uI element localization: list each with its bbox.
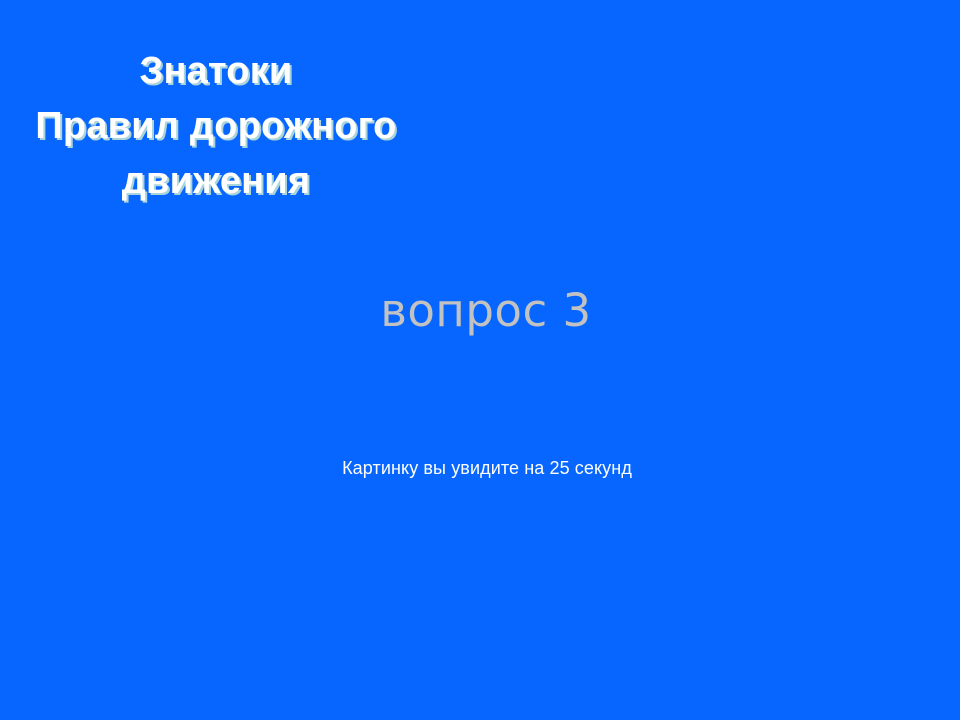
question-label: вопрос 3 — [0, 283, 960, 339]
presentation-slide: Знатоки Правил дорожного движения вопрос… — [0, 0, 960, 720]
title-line-3: движения — [0, 154, 432, 209]
slide-title: Знатоки Правил дорожного движения — [0, 44, 432, 209]
title-line-2: Правил дорожного — [0, 99, 432, 154]
title-line-1: Знатоки — [0, 44, 432, 99]
timing-caption: Картинку вы увидите на 25 секунд — [0, 455, 960, 481]
